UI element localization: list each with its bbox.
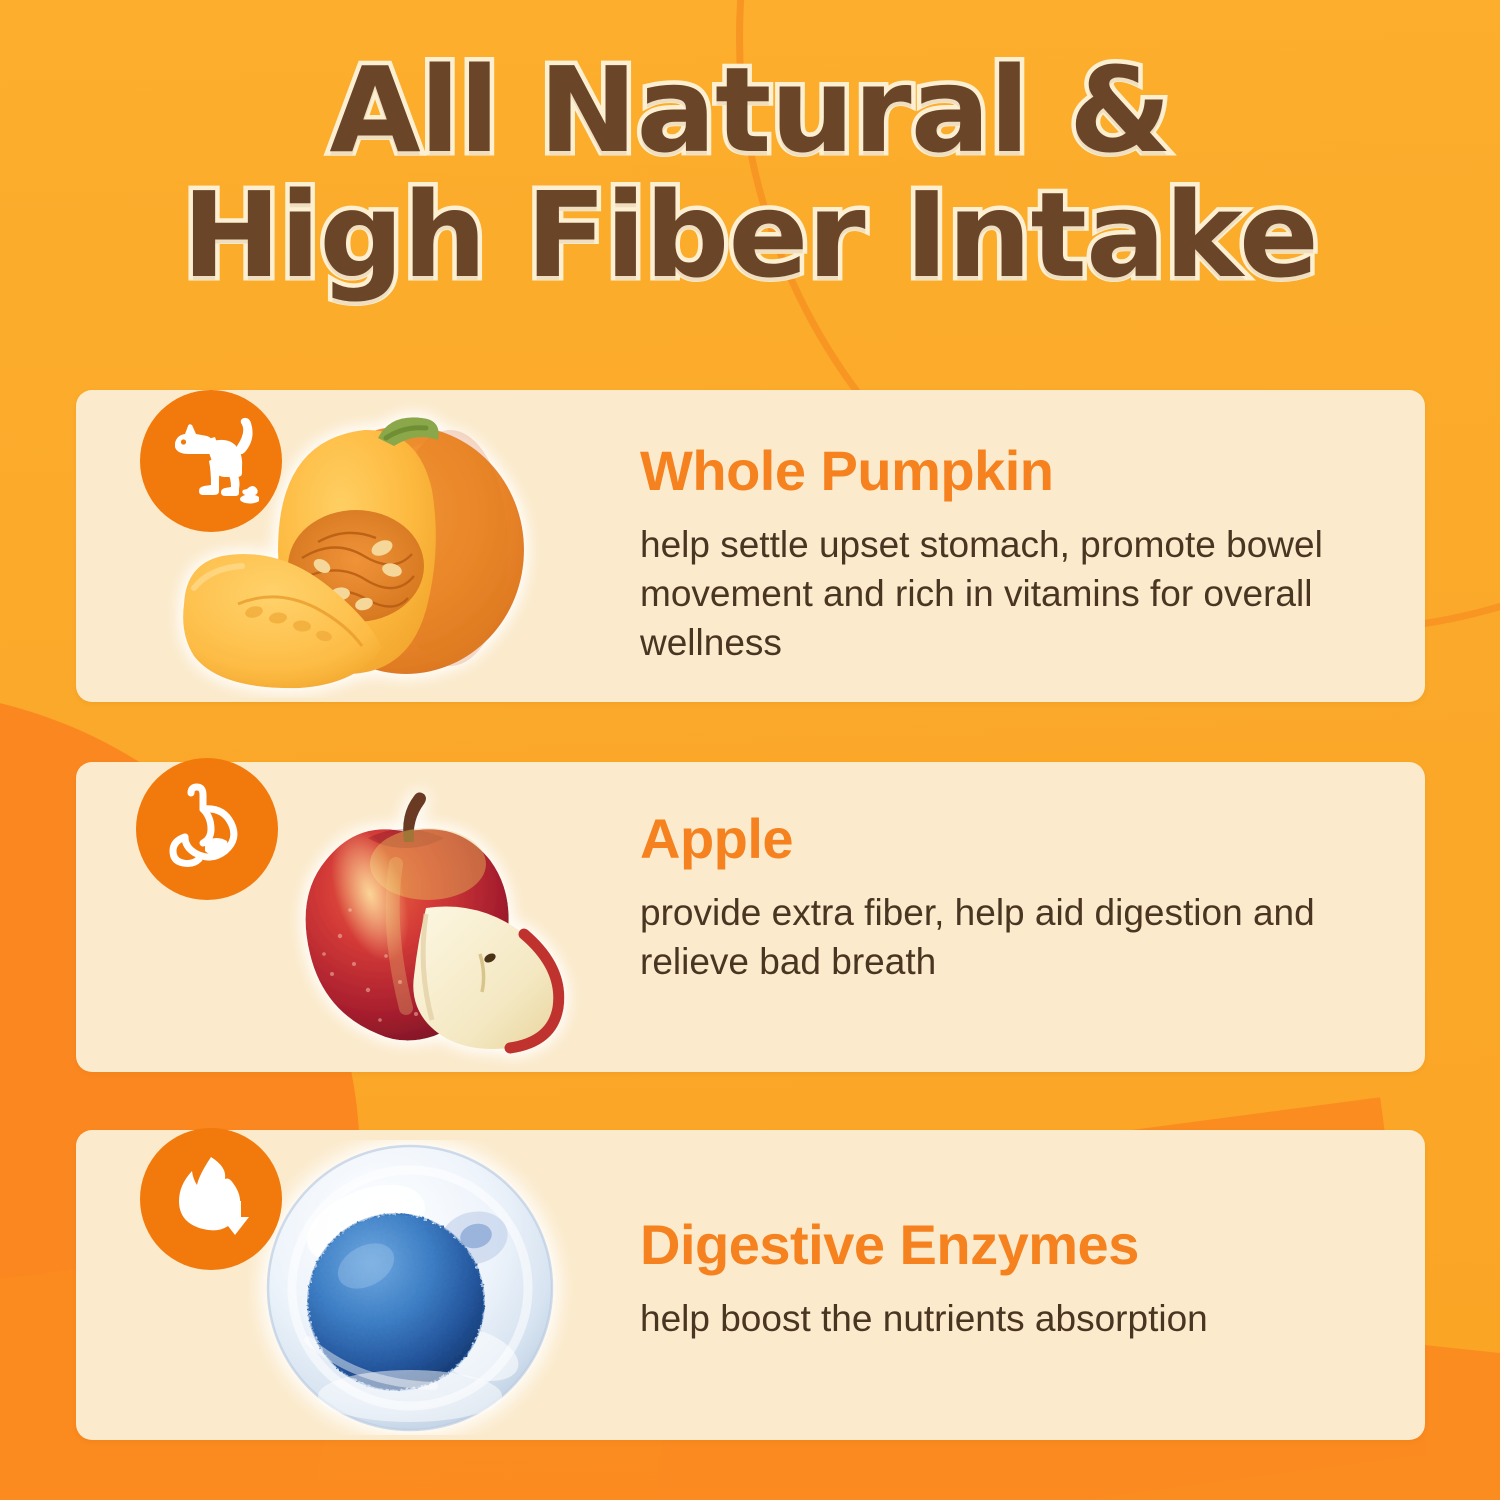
card-description-whole-pumpkin: help settle upset stomach, promote bowel… xyxy=(640,520,1400,668)
stomach-icon xyxy=(136,758,278,900)
card-title-whole-pumpkin: Whole Pumpkin xyxy=(640,440,1460,502)
feature-text-apple: Apple provide extra fiber, help aid dige… xyxy=(640,808,1460,986)
page-title: All Natural & High Fiber Intake xyxy=(0,48,1500,298)
feature-text-whole-pumpkin: Whole Pumpkin help settle upset stomach,… xyxy=(640,440,1460,667)
card-description-digestive-enzymes: help boost the nutrients absorption xyxy=(640,1294,1460,1343)
card-title-apple: Apple xyxy=(640,808,1460,870)
page-title-line-2: High Fiber Intake xyxy=(0,173,1500,298)
card-title-digestive-enzymes: Digestive Enzymes xyxy=(640,1214,1460,1276)
feature-text-digestive-enzymes: Digestive Enzymes help boost the nutrien… xyxy=(640,1214,1460,1343)
flame-down-arrow-icon xyxy=(140,1128,282,1270)
card-description-apple: provide extra fiber, help aid digestion … xyxy=(640,888,1400,986)
dog-pooping-icon xyxy=(140,390,282,532)
page-title-line-1: All Natural & xyxy=(0,48,1500,173)
infographic-poster: All Natural & High Fiber Intake xyxy=(0,0,1500,1500)
